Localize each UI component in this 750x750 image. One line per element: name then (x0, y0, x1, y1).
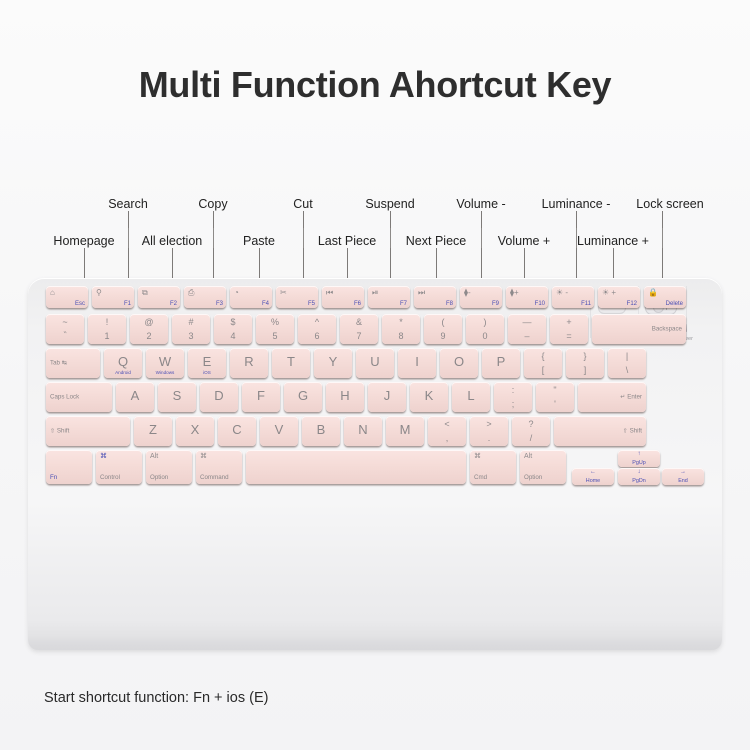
callout-label-suspend: Suspend (365, 197, 414, 211)
key-wide-label: Tab ↹ (50, 360, 96, 367)
arrow-label-up: PgUp (618, 460, 660, 466)
key-top-glyph: ⌘ (100, 452, 107, 461)
key-period[interactable]: >. (470, 416, 508, 446)
key-corner-label: Cmd (474, 474, 487, 481)
key-left-arrow[interactable]: ←Home (572, 468, 614, 485)
callout-label-luminance: Luminance - (542, 197, 611, 211)
key-f6[interactable]: ⏮F6 (322, 286, 364, 308)
key-w[interactable]: WWindows (146, 348, 184, 378)
key-p[interactable]: P (482, 348, 520, 378)
arrow-label-down: PgDn (618, 478, 660, 484)
key-fn-label: Esc (75, 301, 85, 307)
key-f7[interactable]: ⏯F7 (368, 286, 410, 308)
key-3[interactable]: #3 (172, 314, 210, 344)
key-backtick[interactable]: ~‶ (46, 314, 84, 344)
key-letter: F (242, 388, 280, 403)
key-fn-label: F3 (216, 301, 223, 307)
key-comma[interactable]: <, (428, 416, 466, 446)
key-v[interactable]: V (260, 416, 298, 446)
key-upper-legend: " (536, 385, 574, 395)
key-upper-legend: ? (512, 419, 550, 429)
key-upper-legend: > (470, 419, 508, 429)
callout-divider (128, 228, 129, 248)
callout-divider (576, 228, 577, 248)
key-8[interactable]: *8 (382, 314, 420, 344)
key-f[interactable]: F (242, 382, 280, 412)
arrow-icon-right: → (662, 468, 704, 476)
key-r[interactable]: R (230, 348, 268, 378)
arrow-label-left: Home (572, 478, 614, 484)
callout-label-all-election: All election (142, 234, 202, 248)
caption: Start shortcut function: Fn + ios (E) (44, 690, 268, 706)
key-lower-legend: ‶ (46, 330, 84, 341)
key-z[interactable]: Z (134, 416, 172, 446)
key-letter: E (188, 354, 226, 369)
key-upper-legend: : (494, 385, 532, 395)
key-icon-f8: ⏭ (418, 288, 425, 297)
callout-divider (390, 228, 391, 248)
key-capslock[interactable]: Caps Lock (46, 382, 112, 412)
callout-divider (303, 228, 304, 248)
key-fn-label: F9 (492, 301, 499, 307)
callout-label-lock-screen: Lock screen (636, 197, 703, 211)
arrow-icon-left: ← (572, 468, 614, 476)
key-upper-legend: $ (214, 317, 252, 327)
key-fn-label: Delete (666, 301, 683, 307)
key-letter: K (410, 388, 448, 403)
key-letter: L (452, 388, 490, 403)
key-corner-label: Option (524, 474, 542, 481)
callout-label-search: Search (108, 197, 148, 211)
key-icon-esc: ⌂ (50, 288, 55, 297)
key-icon-f11: ☀ - (556, 288, 568, 297)
key-esc[interactable]: ⌂Esc (46, 286, 88, 308)
key-upper-legend: ) (466, 317, 504, 327)
key-lower-legend: 6 (298, 331, 336, 341)
key-corner-label: Option (150, 474, 168, 481)
key-fn-label: F12 (627, 301, 637, 307)
key-f10[interactable]: ⧫+F10 (506, 286, 548, 308)
key-t[interactable]: T (272, 348, 310, 378)
callout-divider (213, 228, 214, 248)
key-f9[interactable]: ⧫-F9 (460, 286, 502, 308)
key-s[interactable]: S (158, 382, 196, 412)
key-2[interactable]: @2 (130, 314, 168, 344)
key-letter: X (176, 422, 214, 437)
key-l[interactable]: L (452, 382, 490, 412)
key-lower-legend: ] (566, 365, 604, 375)
key-fn-label: F5 (308, 301, 315, 307)
key-lower-legend: 4 (214, 331, 252, 341)
key-0[interactable]: )0 (466, 314, 504, 344)
key-semicolon[interactable]: :; (494, 382, 532, 412)
key-j[interactable]: J (368, 382, 406, 412)
key-9[interactable]: (9 (424, 314, 462, 344)
key-upper-legend: ( (424, 317, 462, 327)
key-lower-legend: . (470, 433, 508, 443)
key-u[interactable]: U (356, 348, 394, 378)
key-backslash[interactable]: |\ (608, 348, 646, 378)
key-down-arrow[interactable]: ↓PgDn (618, 468, 660, 485)
key-letter: C (218, 422, 256, 437)
key-letter: P (482, 354, 520, 369)
key-letter: J (368, 388, 406, 403)
key-letter: N (344, 422, 382, 437)
key-i[interactable]: I (398, 348, 436, 378)
key-option-right[interactable]: AltOption (520, 450, 566, 484)
key-upper-legend: * (382, 317, 420, 327)
key-fn-label: F2 (170, 301, 177, 307)
key-f8[interactable]: ⏭F8 (414, 286, 456, 308)
callout-label-homepage: Homepage (53, 234, 114, 248)
key-fn-label: F11 (581, 301, 591, 307)
key-lower-legend: 0 (466, 331, 504, 341)
key-upper-legend: — (508, 317, 546, 327)
key-b[interactable]: B (302, 416, 340, 446)
key-fn-label: F7 (400, 301, 407, 307)
key-icon-f12: ☀ + (602, 288, 616, 297)
callout-label-next-piece: Next Piece (406, 234, 466, 248)
key-f12[interactable]: ☀ +F12 (598, 286, 640, 308)
key-sublabel: Android (104, 370, 142, 375)
key-n[interactable]: N (344, 416, 382, 446)
key-icon-f9: ⧫- (464, 288, 471, 297)
key-letter: U (356, 354, 394, 369)
key-delete[interactable]: 🔒Delete (644, 286, 686, 308)
key-fn-label: F10 (535, 301, 545, 307)
callout-label-volume: Volume - (456, 197, 505, 211)
key-letter: T (272, 354, 310, 369)
key-wide-label: Backspace (596, 326, 682, 333)
key-f2[interactable]: ⧉F2 (138, 286, 180, 308)
key-upper-legend: ~ (46, 317, 84, 327)
key-icon-f7: ⏯ (372, 288, 378, 297)
key-y[interactable]: Y (314, 348, 352, 378)
key-upper-legend: & (340, 317, 378, 327)
key-sublabel: Windows (146, 370, 184, 375)
key-6[interactable]: ^6 (298, 314, 336, 344)
key-up-arrow[interactable]: ↑PgUp (618, 450, 660, 467)
key-top-glyph: ⌘ (200, 452, 207, 461)
key-letter: Q (104, 354, 142, 369)
key-top-glyph: ⌘ (474, 452, 481, 461)
key-upper-legend: | (608, 351, 646, 361)
key-lower-legend: ; (494, 399, 532, 409)
key-sublabel: iOS (188, 370, 226, 375)
key-letter: Z (134, 422, 172, 437)
key-f1[interactable]: ⚲F1 (92, 286, 134, 308)
key-lower-legend: 2 (130, 331, 168, 341)
key-f11[interactable]: ☀ -F11 (552, 286, 594, 308)
arrow-icon-up: ↑ (618, 450, 660, 458)
key-icon-f4: ◔ (234, 288, 239, 297)
key-letter: O (440, 354, 478, 369)
key-letter: A (116, 388, 154, 403)
key-lower-legend: , (428, 433, 466, 443)
key-f4[interactable]: ◔F4 (230, 286, 272, 308)
key-icon-f10: ⧫+ (510, 288, 519, 297)
key-option-left[interactable]: AltOption (146, 450, 192, 484)
key-lower-legend: \ (608, 365, 646, 375)
key-k[interactable]: K (410, 382, 448, 412)
key-letter: Y (314, 354, 352, 369)
key-cmd-right[interactable]: ⌘Cmd (470, 450, 516, 484)
key-icon-f5: ✂ (280, 288, 287, 297)
key-1[interactable]: !1 (88, 314, 126, 344)
callout-label-paste: Paste (243, 234, 275, 248)
key-quote[interactable]: "' (536, 382, 574, 412)
key-c[interactable]: C (218, 416, 256, 446)
key-h[interactable]: H (326, 382, 364, 412)
key-letter: B (302, 422, 340, 437)
key-minus[interactable]: —– (508, 314, 546, 344)
key-lower-legend: 5 (256, 331, 294, 341)
key-upper-legend: ! (88, 317, 126, 327)
key-lower-legend: 3 (172, 331, 210, 341)
key-o[interactable]: O (440, 348, 478, 378)
key-upper-legend: < (428, 419, 466, 429)
key-equals[interactable]: += (550, 314, 588, 344)
key-wide-label: Caps Lock (50, 394, 108, 401)
keyboard: ConnectOFF/ONCAPSChargePower ⌂Esc⚲F1⧉F2⎙… (28, 278, 722, 650)
key-space[interactable] (246, 450, 466, 484)
key-f5[interactable]: ✂F5 (276, 286, 318, 308)
key-letter: G (284, 388, 322, 403)
arrow-icon-down: ↓ (618, 468, 660, 476)
key-icon-f3: ⎙ (188, 288, 194, 297)
callout-label-copy: Copy (198, 197, 227, 211)
key-upper-legend: ^ (298, 317, 336, 327)
key-fn[interactable]: Fn (46, 450, 92, 484)
key-lower-legend: [ (524, 365, 562, 375)
callout-divider (662, 228, 663, 248)
key-q[interactable]: QAndroid (104, 348, 142, 378)
key-5[interactable]: %5 (256, 314, 294, 344)
callout-label-luminance: Luminance + (577, 234, 649, 248)
key-lbracket[interactable]: {[ (524, 348, 562, 378)
key-4[interactable]: $4 (214, 314, 252, 344)
key-backspace[interactable]: Backspace (592, 314, 686, 344)
key-top-glyph: Alt (150, 452, 158, 461)
key-lower-legend: / (512, 433, 550, 443)
key-lower-legend: ' (536, 399, 574, 409)
key-g[interactable]: G (284, 382, 322, 412)
key-letter: I (398, 354, 436, 369)
arrow-label-right: End (662, 478, 704, 484)
page-root: Multi Function Ahortcut Key SearchCopyCu… (0, 0, 750, 750)
callout-label-cut: Cut (293, 197, 312, 211)
key-slash[interactable]: ?/ (512, 416, 550, 446)
key-lower-legend: 1 (88, 331, 126, 341)
key-wide-label: ⇧ Shift (50, 428, 126, 435)
key-lower-legend: 8 (382, 331, 420, 341)
callout-divider (481, 228, 482, 248)
key-enter[interactable]: ↵ Enter (578, 382, 646, 412)
key-a[interactable]: A (116, 382, 154, 412)
key-lower-legend: – (508, 331, 546, 341)
key-icon-f6: ⏮ (326, 288, 333, 297)
key-letter: H (326, 388, 364, 403)
key-left-shift[interactable]: ⇧ Shift (46, 416, 130, 446)
key-rbracket[interactable]: }] (566, 348, 604, 378)
callout-label-last-piece: Last Piece (318, 234, 376, 248)
key-letter: D (200, 388, 238, 403)
key-d[interactable]: D (200, 382, 238, 412)
key-right-arrow[interactable]: →End (662, 468, 704, 485)
key-fn-label: F6 (354, 301, 361, 307)
key-lower-legend: 9 (424, 331, 462, 341)
key-fn-label: F4 (262, 301, 269, 307)
key-tab[interactable]: Tab ↹ (46, 348, 100, 378)
key-corner-label: Control (100, 474, 120, 481)
key-icon-f2: ⧉ (142, 288, 148, 297)
key-upper-legend: % (256, 317, 294, 327)
callout-label-volume: Volume + (498, 234, 550, 248)
key-corner-label: Command (200, 474, 229, 481)
key-command-left[interactable]: ⌘Command (196, 450, 242, 484)
key-letter: M (386, 422, 424, 437)
key-upper-legend: + (550, 317, 588, 327)
key-icon-f1: ⚲ (96, 288, 102, 297)
key-upper-legend: # (172, 317, 210, 327)
key-icon-delete: 🔒 (648, 288, 658, 297)
key-letter: R (230, 354, 268, 369)
key-right-shift[interactable]: ⇧ Shift (554, 416, 646, 446)
key-upper-legend: { (524, 351, 562, 361)
key-lower-legend: 7 (340, 331, 378, 341)
key-e[interactable]: EiOS (188, 348, 226, 378)
key-letter: S (158, 388, 196, 403)
key-letter: V (260, 422, 298, 437)
key-control[interactable]: ⌘Control (96, 450, 142, 484)
key-x[interactable]: X (176, 416, 214, 446)
key-fn-label: F8 (446, 301, 453, 307)
key-top-glyph: Alt (524, 452, 532, 461)
key-m[interactable]: M (386, 416, 424, 446)
key-f3[interactable]: ⎙F3 (184, 286, 226, 308)
key-lower-legend: = (550, 331, 588, 341)
key-upper-legend: @ (130, 317, 168, 327)
key-wide-label: ⇧ Shift (558, 428, 642, 435)
key-upper-legend: } (566, 351, 604, 361)
key-corner-label: Fn (50, 474, 57, 481)
key-fn-label: F1 (124, 301, 131, 307)
key-7[interactable]: &7 (340, 314, 378, 344)
key-wide-label: ↵ Enter (582, 394, 642, 401)
key-letter: W (146, 354, 184, 369)
